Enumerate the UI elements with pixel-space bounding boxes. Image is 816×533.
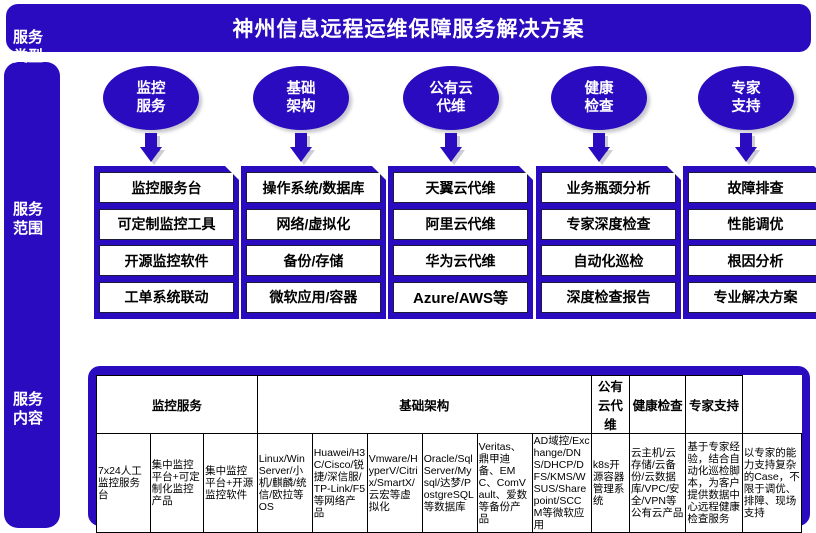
content-cell-4[interactable]: Huawei/H3C/Cisco/锐捷/深信服/TP-Link/F5等网络产品 [312,434,367,533]
arrow-down-public-cloud-icon [440,133,462,163]
service-type-expert-support-line2: 支持 [732,98,761,116]
service-type-infrastructure-line1: 基础 [287,80,316,98]
scope-item-public-cloud-3[interactable]: Azure/AWS等 [393,282,528,313]
rail-label-service-scope-line1: 服务 [0,200,56,219]
service-type-public-cloud-line1: 公有云 [429,80,473,98]
page-title: 神州信息远程运维保障服务解决方案 [6,4,811,52]
scope-box-expert-support: 故障排查 性能调优 根因分析 专业解决方案 [683,166,816,319]
group-header-monitoring: 监控服务 [97,376,258,434]
scope-item-public-cloud-2[interactable]: 华为云代维 [393,245,528,276]
service-type-monitoring-line2: 服务 [137,98,166,116]
scope-item-infrastructure-1[interactable]: 网络/虚拟化 [246,209,381,240]
arrow-down-expert-support-icon [735,133,757,163]
scope-item-health-check-1[interactable]: 专家深度检查 [541,209,676,240]
scope-item-monitoring-1[interactable]: 可定制监控工具 [99,209,234,240]
content-cell-6[interactable]: Oracle/SqlServer/Mysql/达梦/PostgreSQL等数据库 [422,434,477,533]
scope-item-public-cloud-0[interactable]: 天翼云代维 [393,172,528,203]
content-cell-9[interactable]: k8s开源容器管理系统 [591,434,629,533]
service-type-monitoring-line1: 监控 [137,80,166,98]
service-content-table: 监控服务 基础架构 公有云代维 健康检查 专家支持 7x24人工监控服务台 集中… [96,375,802,533]
content-cell-1[interactable]: 集中监控平台+可定制化监控产品 [150,434,204,533]
scope-item-monitoring-0[interactable]: 监控服务台 [99,172,234,203]
arrow-down-monitoring-icon [140,133,162,163]
table-header-row: 监控服务 基础架构 公有云代维 健康检查 专家支持 [97,376,802,434]
content-cell-11[interactable]: 基于专家经验，结合自动化巡检脚本，为客户提供数据中心远程健康检查服务 [686,434,742,533]
service-type-health-check-line2: 检查 [585,98,614,116]
content-cell-2[interactable]: 集中监控平台+开源监控软件 [204,434,258,533]
group-header-infrastructure: 基础架构 [257,376,591,434]
diagram-root: 神州信息远程运维保障服务解决方案 服务 类型 服务 范围 服务 内容 监控服务 … [0,0,816,533]
content-cell-3[interactable]: Linux/Win Server/小机/麒麟/统信/欧拉等OS [257,434,312,533]
rail-label-service-type-line2: 类型 [0,47,56,66]
content-cell-10[interactable]: 云主机/云存储/云备份/云数据库/VPC/安全/VPN等公有云产品 [629,434,685,533]
service-type-expert-support-line1: 专家 [732,80,761,98]
content-cell-8[interactable]: AD域控/Exchange/DNS/DHCP/DFS/KMS/WSUS/Shar… [532,434,591,533]
content-cell-7[interactable]: Veritas、鼎甲迪备、EMC、ComVault、爱数等备份产品 [477,434,532,533]
rail-label-service-content-line2: 内容 [0,409,56,428]
scope-item-expert-support-1[interactable]: 性能调优 [688,209,816,240]
service-type-monitoring[interactable]: 监控服务 [103,66,199,130]
service-type-public-cloud[interactable]: 公有云代维 [403,66,499,130]
group-header-expert-support: 专家支持 [686,376,742,434]
group-header-health-check: 健康检查 [629,376,685,434]
scope-item-infrastructure-0[interactable]: 操作系统/数据库 [246,172,381,203]
category-rail [4,62,60,528]
scope-item-health-check-0[interactable]: 业务瓶颈分析 [541,172,676,203]
scope-item-expert-support-2[interactable]: 根因分析 [688,245,816,276]
table-row: 7x24人工监控服务台 集中监控平台+可定制化监控产品 集中监控平台+开源监控软… [97,434,802,533]
scope-box-public-cloud: 天翼云代维 阿里云代维 华为云代维 Azure/AWS等 [388,166,533,319]
content-cell-0[interactable]: 7x24人工监控服务台 [97,434,151,533]
rail-label-service-scope-line2: 范围 [0,219,56,238]
service-type-expert-support[interactable]: 专家支持 [698,66,794,130]
rail-label-service-content: 服务 内容 [0,390,56,428]
scope-item-monitoring-3[interactable]: 工单系统联动 [99,282,234,313]
arrow-down-infrastructure-icon [290,133,312,163]
service-type-health-check-line1: 健康 [585,80,614,98]
scope-box-monitoring: 监控服务台 可定制监控工具 开源监控软件 工单系统联动 [94,166,239,319]
rail-label-service-type: 服务 类型 [0,28,56,66]
rail-label-service-scope: 服务 范围 [0,200,56,238]
service-type-infrastructure[interactable]: 基础架构 [253,66,349,130]
service-content-panel: 监控服务 基础架构 公有云代维 健康检查 专家支持 7x24人工监控服务台 集中… [88,366,810,526]
service-type-infrastructure-line2: 架构 [287,98,316,116]
scope-box-health-check: 业务瓶颈分析 专家深度检查 自动化巡检 深度检查报告 [536,166,681,319]
content-cell-12[interactable]: 以专家的能力支持复杂的Case，不限于调优、排障、现场支持 [742,434,801,533]
scope-item-expert-support-0[interactable]: 故障排查 [688,172,816,203]
content-cell-5[interactable]: Vmware/HyperV/Citrix/SmartX/云宏等虚拟化 [367,434,422,533]
rail-label-service-type-line1: 服务 [0,28,56,47]
arrow-down-health-check-icon [588,133,610,163]
scope-item-health-check-2[interactable]: 自动化巡检 [541,245,676,276]
scope-item-infrastructure-3[interactable]: 微软应用/容器 [246,282,381,313]
scope-item-monitoring-2[interactable]: 开源监控软件 [99,245,234,276]
scope-item-health-check-3[interactable]: 深度检查报告 [541,282,676,313]
page-title-text: 神州信息远程运维保障服务解决方案 [233,13,585,43]
scope-item-expert-support-3[interactable]: 专业解决方案 [688,282,816,313]
service-type-health-check[interactable]: 健康检查 [551,66,647,130]
service-type-public-cloud-line2: 代维 [429,98,473,116]
scope-box-infrastructure: 操作系统/数据库 网络/虚拟化 备份/存储 微软应用/容器 [241,166,386,319]
scope-item-public-cloud-1[interactable]: 阿里云代维 [393,209,528,240]
rail-label-service-content-line1: 服务 [0,390,56,409]
scope-item-infrastructure-2[interactable]: 备份/存储 [246,245,381,276]
group-header-public-cloud: 公有云代维 [591,376,629,434]
